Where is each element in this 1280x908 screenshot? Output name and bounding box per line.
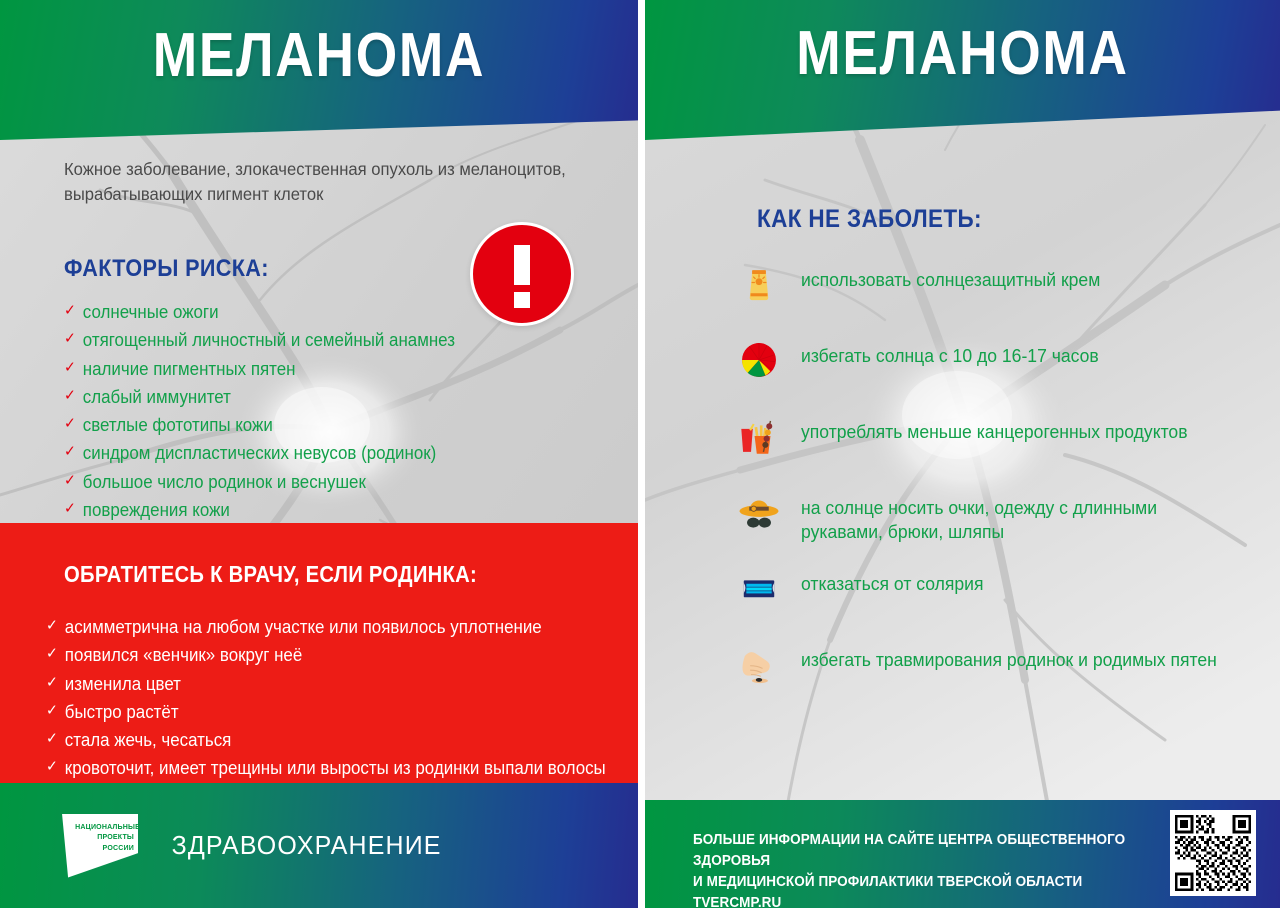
list-item-label: отказаться от солярия — [801, 562, 984, 596]
footer-program-label: ЗДРАВООХРАНЕНИЕ — [172, 830, 442, 861]
risk-factors-heading: ФАКТОРЫ РИСКА: — [64, 255, 269, 283]
intro-text: Кожное заболевание, злокачественная опух… — [64, 157, 568, 208]
list-item: на солнце носить очки, одежду с длинными… — [733, 486, 1253, 558]
list-item-label: наличие пигментных пятен — [83, 359, 296, 379]
list-item-label: слабый иммунитет — [83, 387, 231, 407]
check-icon: ✓ — [64, 358, 76, 378]
risk-factors-list: ✓солнечные ожоги ✓отягощенный личностный… — [64, 300, 480, 526]
check-icon: ✓ — [46, 757, 58, 777]
poster: МЕЛАНОМА Кожное заболевание, злокачестве… — [0, 0, 1280, 908]
list-item: ✓повреждения кожи — [64, 498, 455, 522]
see-doctor-heading: ОБРАТИТЕСЬ К ВРАЧУ, ЕСЛИ РОДИНКА: — [64, 561, 477, 588]
more-info-line-1: БОЛЬШЕ ИНФОРМАЦИИ НА САЙТЕ ЦЕНТРА ОБЩЕСТ… — [693, 830, 1130, 872]
prevention-list: использовать солнцезащитный крем — [733, 258, 1253, 714]
list-item-label: синдром диспластических невусов (родинок… — [83, 443, 436, 463]
list-item-label: асимметрична на любом участке или появил… — [65, 617, 542, 637]
list-item-label: большое число родинок и веснушек — [83, 472, 366, 492]
list-item-label: отягощенный личностный и семейный анамне… — [83, 330, 455, 350]
logo-line-3: РОССИИ — [75, 843, 134, 854]
list-item-label: появился «венчик» вокруг неё — [65, 645, 302, 665]
check-icon: ✓ — [64, 499, 76, 519]
list-item-label: употреблять меньше канцерогенных продукт… — [801, 410, 1188, 444]
list-item: избегать солнца с 10 до 16-17 часов — [733, 334, 1253, 406]
list-item-label: избегать солнца с 10 до 16-17 часов — [801, 334, 1099, 368]
list-item: ✓слабый иммунитет — [64, 385, 455, 409]
list-item: ✓большое число родинок и веснушек — [64, 470, 455, 494]
list-item-label: на солнце носить очки, одежду с длинными… — [801, 486, 1230, 544]
list-item: ✓кровоточит, имеет трещины или выросты и… — [46, 756, 606, 780]
logo-line-2: ПРОЕКТЫ — [75, 832, 134, 843]
logo-line-1: НАЦИОНАЛЬНЫЕ — [75, 822, 134, 833]
check-icon: ✓ — [46, 644, 58, 664]
list-item-label: стала жечь, чесаться — [65, 730, 232, 750]
left-footer: НАЦИОНАЛЬНЫЕ ПРОЕКТЫ РОССИИ ЗДРАВООХРАНЕ… — [0, 783, 638, 908]
right-page-title: МЕЛАНОМА — [689, 18, 1235, 89]
list-item-label: солнечные ожоги — [83, 302, 219, 322]
list-item-label: повреждения кожи — [83, 500, 230, 520]
exclamation-stem — [514, 245, 530, 285]
more-info-line-2: И МЕДИЦИНСКОЙ ПРОФИЛАКТИКИ ТВЕРСКОЙ ОБЛА… — [693, 872, 1130, 908]
check-icon: ✓ — [46, 729, 58, 749]
more-info-text: БОЛЬШЕ ИНФОРМАЦИИ НА САЙТЕ ЦЕНТРА ОБЩЕСТ… — [693, 830, 1130, 908]
list-item-label: быстро растёт — [65, 702, 179, 722]
national-projects-logo: НАЦИОНАЛЬНЫЕ ПРОЕКТЫ РОССИИ — [62, 814, 138, 878]
qr-code-icon[interactable] — [1170, 810, 1256, 896]
sunscreen-tube-icon — [733, 258, 785, 310]
list-item: ✓синдром диспластических невусов (родино… — [64, 441, 455, 465]
list-item-label: светлые фототипы кожи — [83, 415, 273, 435]
list-item: отказаться от солярия — [733, 562, 1253, 634]
list-item-label: изменила цвет — [65, 674, 181, 694]
list-item: ✓стала жечь, чесаться — [46, 728, 606, 752]
list-item: ✓отягощенный личностный и семейный анамн… — [64, 328, 455, 352]
list-item: ✓солнечные ожоги — [64, 300, 455, 324]
clock-pie-icon — [733, 334, 785, 386]
list-item: ✓светлые фототипы кожи — [64, 413, 455, 437]
list-item: избегать травмирования родинок и родимых… — [733, 638, 1253, 710]
list-item-label: избегать травмирования родинок и родимых… — [801, 638, 1217, 672]
exclamation-dot — [514, 292, 530, 308]
list-item: ✓изменила цвет — [46, 672, 606, 696]
list-item: ✓асимметрична на любом участке или появи… — [46, 615, 606, 639]
list-item-label: кровоточит, имеет трещины или выросты из… — [65, 758, 606, 778]
panel-divider — [638, 0, 645, 908]
see-doctor-list: ✓асимметрична на любом участке или появи… — [46, 615, 638, 785]
check-icon: ✓ — [46, 616, 58, 636]
list-item: ✓появился «венчик» вокруг неё — [46, 643, 606, 667]
list-item: ✓наличие пигментных пятен — [64, 357, 455, 381]
check-icon: ✓ — [64, 301, 76, 321]
national-projects-logo-text: НАЦИОНАЛЬНЫЕ ПРОЕКТЫ РОССИИ — [75, 822, 134, 854]
hand-mole-icon — [733, 638, 785, 690]
check-icon: ✓ — [46, 701, 58, 721]
list-item-label: использовать солнцезащитный крем — [801, 258, 1100, 292]
list-item: использовать солнцезащитный крем — [733, 258, 1253, 330]
check-icon: ✓ — [64, 442, 76, 462]
check-icon: ✓ — [64, 386, 76, 406]
check-icon: ✓ — [64, 471, 76, 491]
right-footer: БОЛЬШЕ ИНФОРМАЦИИ НА САЙТЕ ЦЕНТРА ОБЩЕСТ… — [645, 800, 1280, 908]
solarium-bed-icon — [733, 562, 785, 614]
prevention-heading: КАК НЕ ЗАБОЛЕТЬ: — [757, 205, 982, 234]
left-panel: МЕЛАНОМА Кожное заболевание, злокачестве… — [0, 0, 638, 908]
check-icon: ✓ — [64, 329, 76, 349]
see-doctor-block: ОБРАТИТЕСЬ К ВРАЧУ, ЕСЛИ РОДИНКА: ✓асимм… — [0, 523, 638, 783]
list-item: употреблять меньше канцерогенных продукт… — [733, 410, 1253, 482]
left-page-title: МЕЛАНОМА — [45, 20, 594, 91]
check-icon: ✓ — [46, 673, 58, 693]
list-item: ✓быстро растёт — [46, 700, 606, 724]
right-panel: МЕЛАНОМА КАК НЕ ЗАБОЛЕТЬ: — [645, 0, 1280, 908]
fast-food-icon — [733, 410, 785, 462]
check-icon: ✓ — [64, 414, 76, 434]
exclamation-circle-icon — [470, 222, 574, 326]
sunhat-sunglasses-icon — [733, 486, 785, 538]
